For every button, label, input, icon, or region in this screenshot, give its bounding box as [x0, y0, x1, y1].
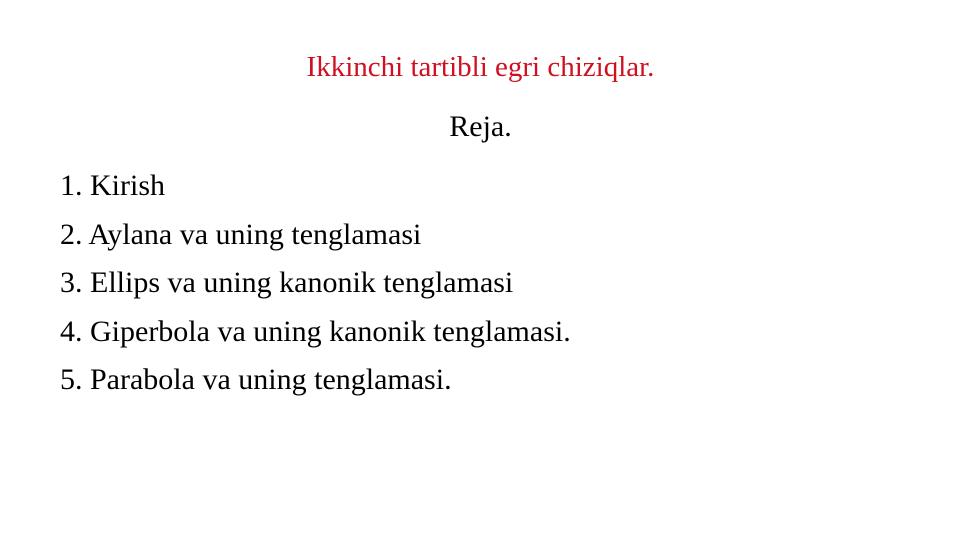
list-item: 4. Giperbola va uning kanonik tenglamasi…	[60, 308, 940, 357]
presentation-slide: Ikkinchi tartibli egri chiziqlar. Reja. …	[0, 0, 961, 540]
list-item: 2. Aylana va uning tenglamasi	[60, 211, 940, 260]
page-title: Ikkinchi tartibli egri chiziqlar.	[0, 51, 961, 84]
list-item: 3. Ellips va uning kanonik tenglamasi	[60, 259, 940, 308]
agenda-heading: Reja.	[0, 110, 961, 145]
agenda-list: 1. Kirish 2. Aylana va uning tenglamasi …	[60, 162, 940, 405]
list-item: 5. Parabola va uning tenglamasi.	[60, 356, 940, 405]
list-item: 1. Kirish	[60, 162, 940, 211]
